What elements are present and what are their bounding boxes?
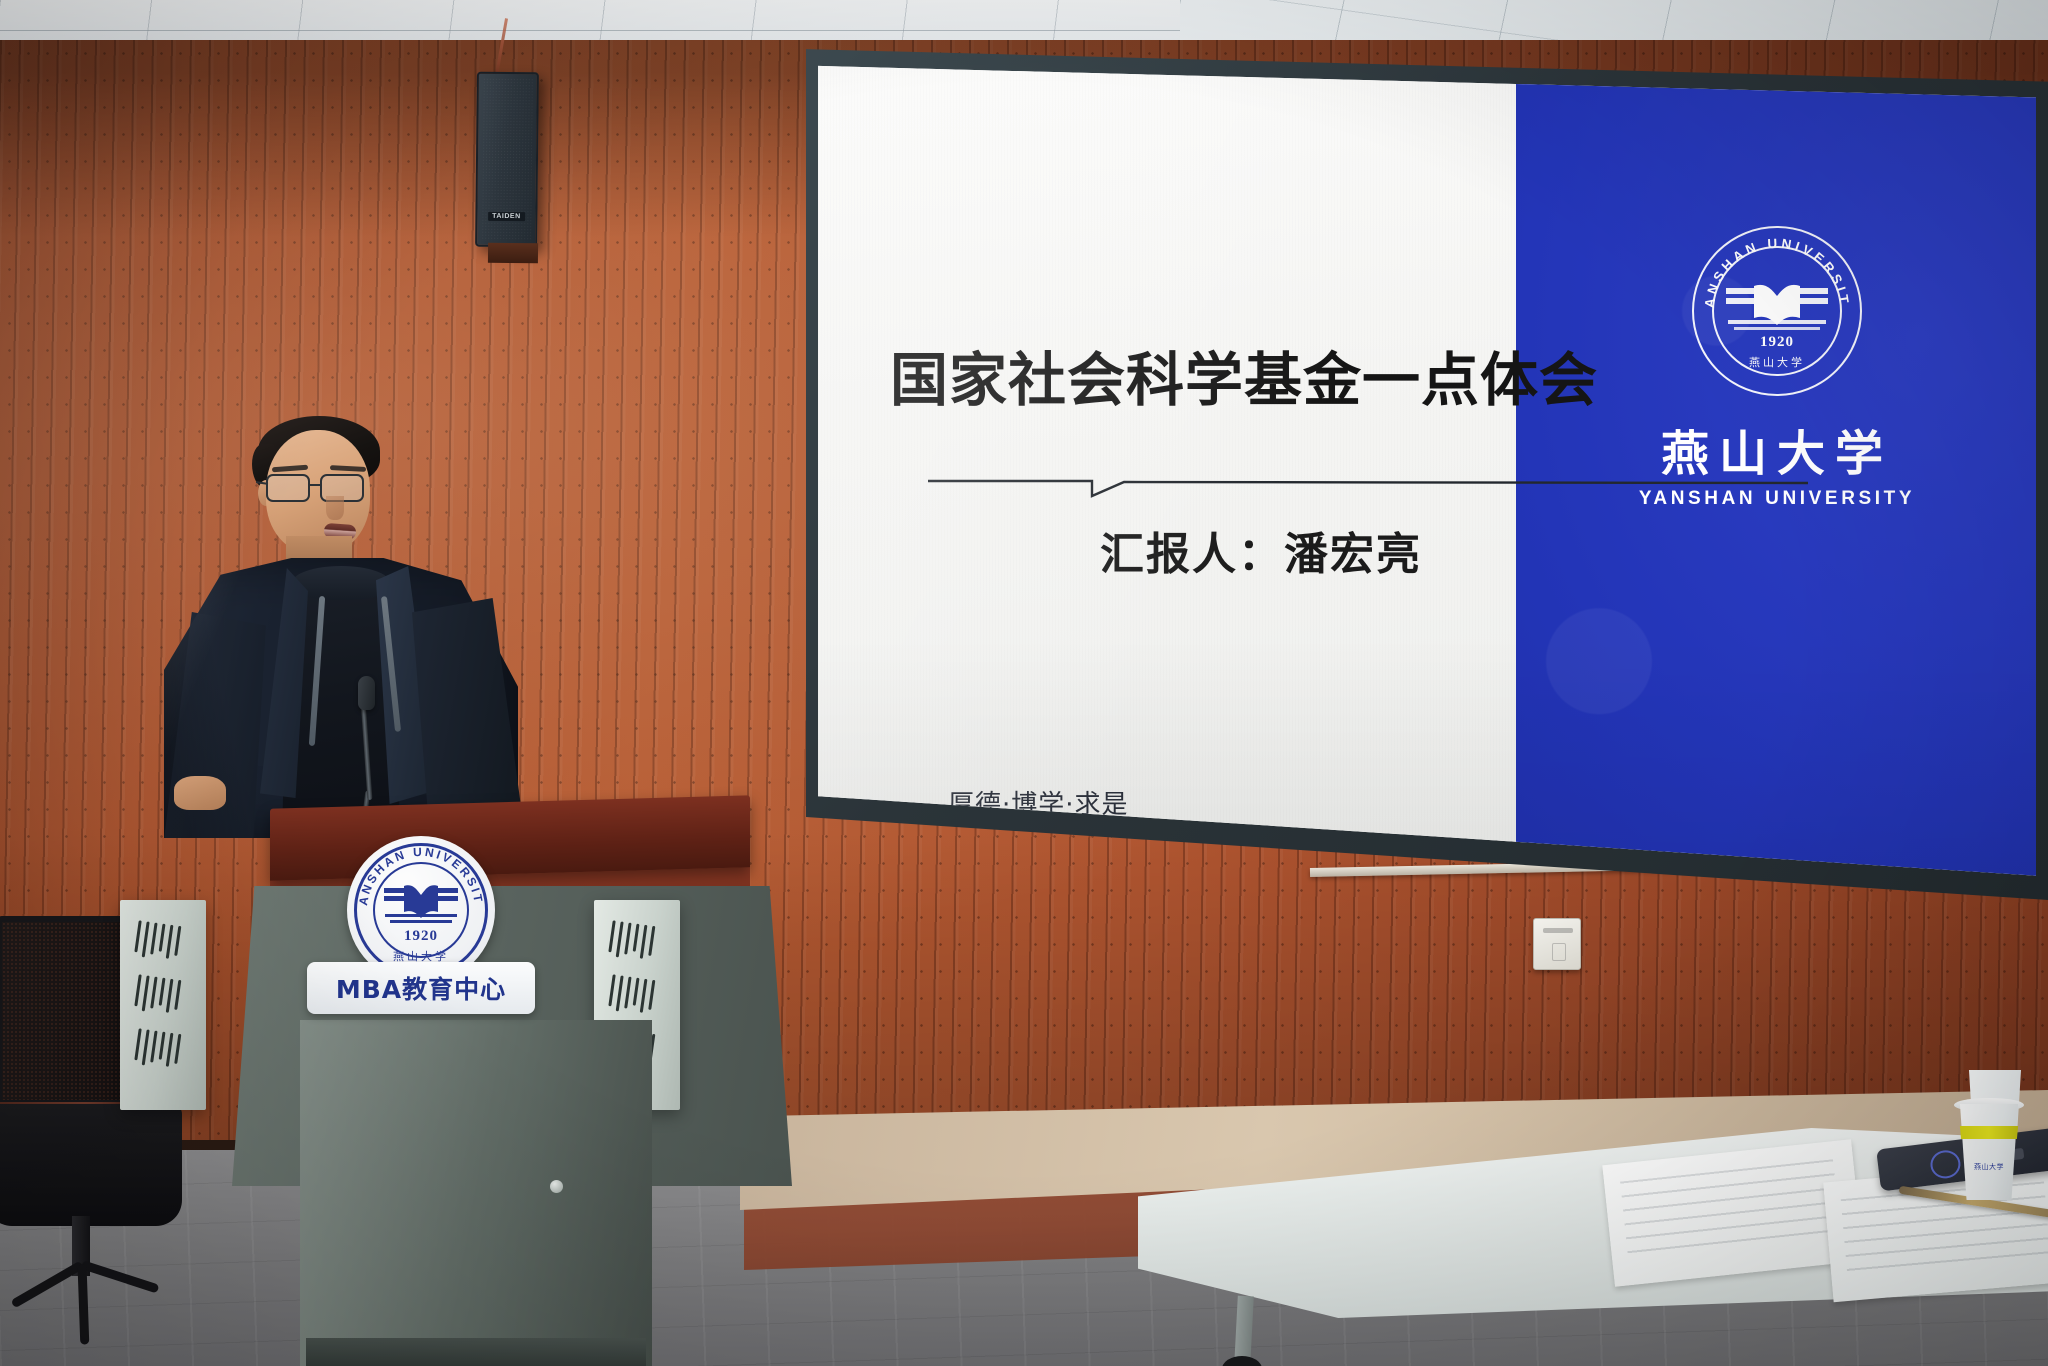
paper-cup-stack[interactable]: 燕山大学 [1952, 1082, 2026, 1200]
screen-surface: YANSHAN UNIVERSITY 1920 燕 [818, 56, 2036, 884]
table-caster-wheel [1222, 1356, 1262, 1366]
speaker-mount-base [488, 243, 538, 264]
slide-blue-panel: YANSHAN UNIVERSITY 1920 燕 [1516, 56, 2036, 884]
nose [326, 496, 344, 520]
wall-outlet[interactable] [1533, 918, 1581, 970]
paper-cup-body [1956, 1104, 2022, 1200]
speaker-brand-label: TAIDEN [488, 212, 525, 221]
podium-vents-left [136, 924, 192, 1054]
seal-chinese-label: 燕山大学 [1692, 354, 1862, 370]
lectern-podium: YANSHAN UNIVERSITY 1920 燕山大学 MBA教育中心 [120, 790, 880, 1366]
microphone-head [358, 676, 375, 710]
slide-presenter: 汇报人：潘宏亮 [1100, 518, 1422, 582]
document-sheet[interactable] [1602, 1139, 1863, 1286]
seal-year-label: 1920 [1692, 334, 1862, 351]
podium-front-shading [300, 1020, 652, 1366]
paper-cup-yellow-band [1958, 1126, 2020, 1139]
university-seal-icon: YANSHAN UNIVERSITY 1920 燕 [1692, 226, 1862, 396]
lens-left [266, 474, 310, 502]
glasses-bridge [310, 484, 322, 486]
eyeglasses [262, 474, 374, 504]
podium-knob[interactable] [550, 1180, 563, 1193]
podium-emblem-block: YANSHAN UNIVERSITY 1920 燕山大学 MBA教育中心 [306, 836, 536, 1016]
slide-title: 国家社会科学基金一点体会 [890, 333, 1598, 417]
wall-speaker: TAIDEN [475, 72, 539, 248]
podium-open-book-icon [383, 882, 459, 924]
university-logo-block: YANSHAN UNIVERSITY 1920 燕 [1612, 226, 1942, 510]
presentation-slide: YANSHAN UNIVERSITY 1920 燕 [818, 56, 2036, 884]
podium-sign-label: MBA教育中心 [336, 970, 506, 1006]
projection-screen: YANSHAN UNIVERSITY 1920 燕 [806, 44, 2048, 900]
podium-sign: MBA教育中心 [307, 962, 535, 1014]
podium-pillar-left [120, 900, 206, 1110]
paper-cup-label: 燕山大学 [1952, 1162, 2026, 1172]
lecture-hall-photo: TAIDEN [0, 0, 2048, 1366]
podium-plinth [306, 1338, 646, 1366]
presenter-person [140, 408, 540, 828]
document-text-lines [1620, 1159, 1841, 1261]
slide-divider-rule [928, 474, 1808, 498]
side-table: 燕山大学 [1138, 1128, 2048, 1366]
open-book-icon [1724, 280, 1830, 332]
podium-seal-year: 1920 [347, 928, 495, 945]
podium-front-face [300, 1020, 652, 1366]
